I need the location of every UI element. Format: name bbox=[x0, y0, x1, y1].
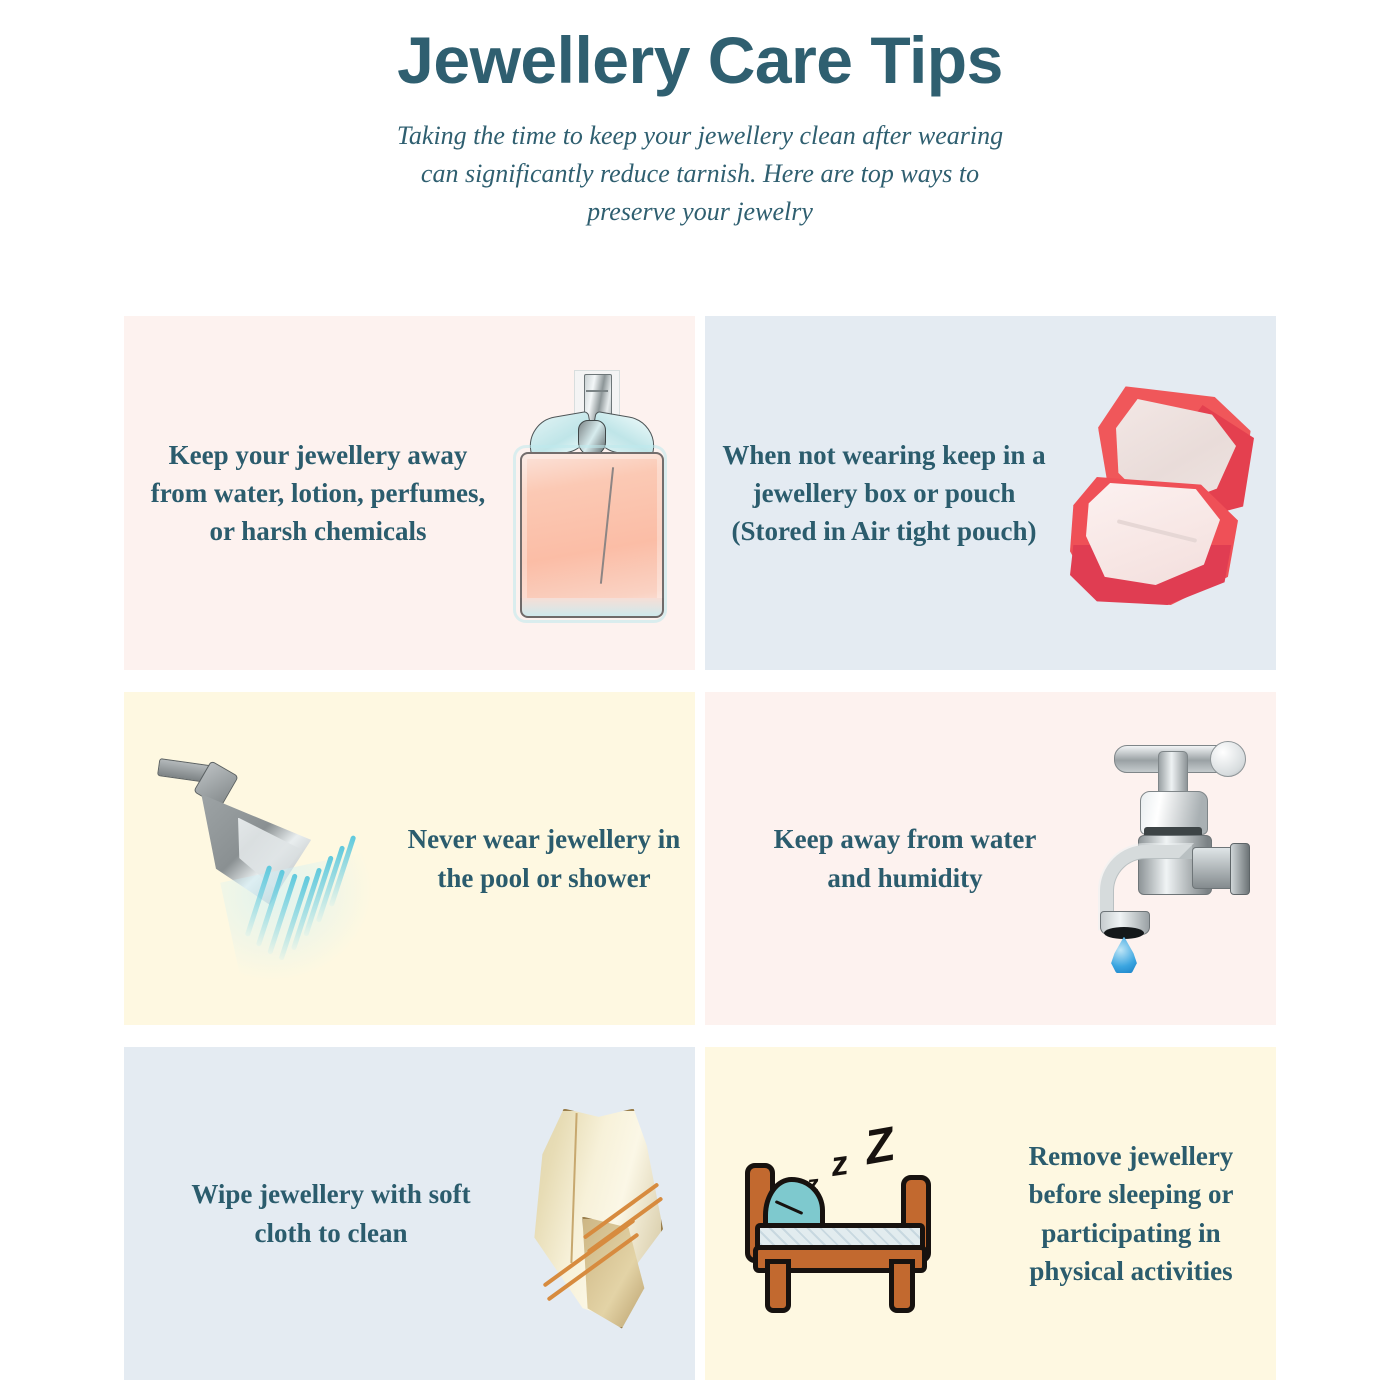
tip-card-faucet: Keep away from water and humidity bbox=[705, 692, 1276, 1025]
tip-card-ring-box: When not wearing keep in a jewellery box… bbox=[705, 316, 1276, 670]
page-subtitle: Taking the time to keep your jewellery c… bbox=[380, 117, 1020, 230]
perfume-bottle-icon bbox=[500, 368, 680, 618]
tip-text: Remove jewellery before sleeping or part… bbox=[991, 1137, 1271, 1290]
cleaning-cloth-icon bbox=[496, 1099, 695, 1329]
water-drop-icon bbox=[1110, 937, 1138, 975]
shower-head-icon bbox=[152, 754, 388, 964]
faucet-handle-knob bbox=[1210, 741, 1246, 777]
perfume-bow-knot bbox=[578, 420, 606, 456]
bed-leg-right bbox=[889, 1259, 915, 1313]
sleep-mark-medium: z bbox=[828, 1144, 850, 1185]
tip-text: Never wear jewellery in the pool or show… bbox=[394, 820, 694, 897]
page-title: Jewellery Care Tips bbox=[0, 26, 1400, 95]
tip-text: When not wearing keep in a jewellery box… bbox=[719, 436, 1049, 551]
tip-card-bed: z z Z Remove jewellery before sleeping o… bbox=[705, 1047, 1276, 1380]
tip-text: Keep away from water and humidity bbox=[755, 820, 1055, 897]
perfume-body bbox=[520, 452, 664, 614]
tip-text: Wipe jewellery with soft cloth to clean bbox=[166, 1175, 496, 1252]
perfume-base bbox=[520, 598, 664, 618]
tip-card-cloth: Wipe jewellery with soft cloth to clean bbox=[124, 1047, 695, 1380]
ring-box-icon bbox=[1049, 377, 1276, 609]
sleep-mark-large: Z bbox=[860, 1116, 898, 1175]
infographic-page: Jewellery Care Tips Taking the time to k… bbox=[0, 0, 1400, 1400]
bed-sleeping-icon: z z Z bbox=[731, 1119, 991, 1309]
tip-card-shower: Never wear jewellery in the pool or show… bbox=[124, 692, 695, 1025]
tips-grid: Keep your jewellery away from water, lot… bbox=[124, 316, 1276, 1380]
header: Jewellery Care Tips Taking the time to k… bbox=[0, 0, 1400, 230]
faucet-water-drop-icon bbox=[1055, 739, 1276, 979]
faucet-wall-mount bbox=[1230, 843, 1250, 895]
perfume-cap-line bbox=[586, 390, 608, 392]
tip-text: Keep your jewellery away from water, lot… bbox=[142, 436, 494, 551]
bed-leg-left bbox=[765, 1259, 791, 1313]
tip-card-perfume: Keep your jewellery away from water, lot… bbox=[124, 316, 695, 670]
